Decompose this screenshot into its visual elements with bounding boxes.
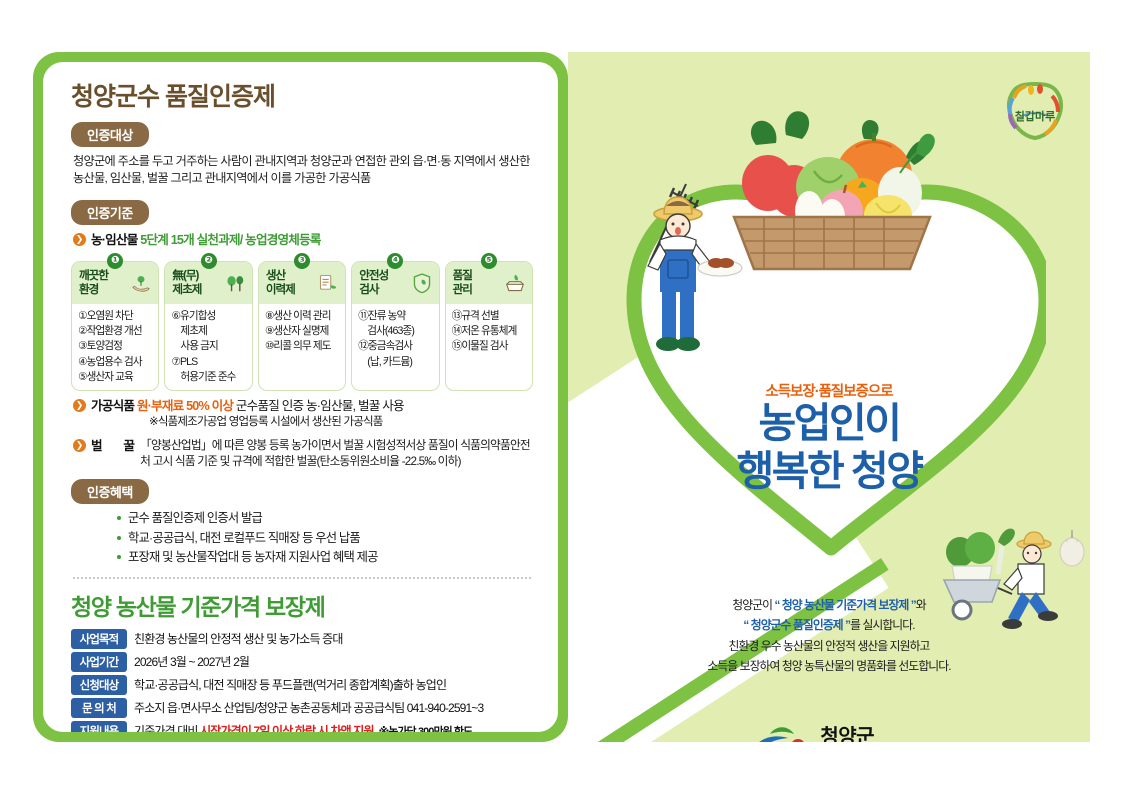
cabbage-icon (946, 529, 1015, 589)
headline-line-1: 농업인이 (568, 400, 1090, 448)
step-title-2-line1: 無(무) (172, 269, 201, 283)
row-label: 지원내용 (71, 721, 127, 732)
chevron-right-icon: ❯ (73, 399, 86, 412)
step-card-5: ❺ 품질 관리 (445, 261, 533, 391)
processed-food-label: 가공식품 (91, 399, 134, 413)
closing-line-1: 청양군이 “ 청양 농산물 기준가격 보장제 ”와 (568, 595, 1090, 615)
brochure-page: 청양군수 품질인증제 인증대상 청양군에 주소를 두고 거주하는 사람이 관내지… (0, 0, 1122, 793)
shield-leaf-icon (411, 272, 433, 294)
step-items-1: ①오염원 차단 ②작업환경 개선 ③토양검정 ④농업용수 검사 ⑤생산자 교육 (72, 304, 158, 384)
step-item: (납, 카드뮴) (358, 355, 433, 369)
table-row: 사업목적 친환경 농산물의 안정적 생산 및 농가소득 증대 (71, 629, 533, 649)
step-title-5: 품질 관리 (453, 269, 472, 296)
row-value: 2026년 3월 ~ 2027년 2월 (134, 652, 249, 671)
criteria-highlight: 5단계 15개 실천과제/ 농업경영체등록 (140, 233, 320, 247)
step-number-5: ❺ (481, 253, 497, 269)
list-item: 학교·공공급식, 대전 로컬푸드 직매장 등 우선 납품 (117, 529, 533, 548)
step-item: ③토양검정 (78, 339, 153, 353)
row-value: 학교·공공급식, 대전 직매장 등 푸드플랜(먹거리 종합계획)출하 농업인 (134, 675, 446, 694)
county-logo: 청양군 CHEONGYANG-GUN (568, 724, 1090, 742)
step-title-2-line2: 제초제 (172, 283, 201, 297)
page-title: 청양군수 품질인증제 (71, 84, 533, 112)
row-label: 문 의 처 (71, 698, 127, 718)
table-row: 문 의 처 주소지 읍·면사무소 산업팀/청양군 농촌공동체과 공공급식팀 04… (71, 698, 533, 718)
step-items-2: ⑥유기합성 제초제 사용 금지 ⑦PLS 허용기준 준수 (165, 304, 251, 384)
vegetable-basket-icon (716, 87, 946, 277)
closing-quote-1: “ 청양 농산물 기준가격 보장제 ” (774, 598, 915, 612)
honey-label: 벌 꿀 (91, 438, 134, 470)
step-title-1-line1: 깨끗한 (79, 269, 108, 283)
step-item: 검사(463종) (358, 324, 433, 338)
processed-food-rest: 군수품질 인증 농·임산물, 벌꿀 사용 (236, 399, 404, 413)
right-panel: 소득보장·품질보증으로 농업인이 행복한 청양 청양군이 “ 청양 농산물 기준… (568, 52, 1090, 742)
county-logo-ko: 청양군 (820, 727, 874, 742)
closing-quote-2: “ 청양군수 품질인증제 ” (743, 618, 850, 632)
kicker-text: 소득보장·품질보증으로 (568, 380, 1090, 401)
closing-line-4: 소득을 보장하여 청양 농특산물의 명품화를 선도합니다. (568, 656, 1090, 676)
package-sprout-icon (504, 272, 526, 294)
tree-icon (224, 272, 246, 294)
criteria-headline: 농·임산물 5단계 15개 실천과제/ 농업경영체등록 (91, 232, 321, 249)
row-label: 신청대상 (71, 675, 127, 695)
step-item: 사용 금지 (171, 339, 246, 353)
support-note: ※농가당 300만원 한도 (379, 726, 473, 732)
step-item: ⑬규격 선별 (452, 309, 527, 323)
step-title-3-line2: 이력제 (266, 283, 295, 297)
closing-line-3: 친환경 우수 농산물의 안정적 생산을 지원하고 (568, 636, 1090, 656)
honey-text: 벌 꿀 「양봉산업법」에 따른 양봉 등록 농가이면서 벌꿀 시험성적서상 품질… (91, 438, 533, 470)
row-label: 사업기간 (71, 652, 127, 672)
processed-food-note: ※식품제조가공업 영업등록 시설에서 생산된 가공식품 (91, 415, 404, 431)
step-title-2: 無(무) 제초제 (172, 269, 201, 296)
chevron-right-icon: ❯ (73, 439, 86, 452)
step-item: ⑪잔류 농약 (358, 309, 433, 323)
step-items-5: ⑬규격 선별 ⑭저온 유통체계 ⑮이물질 검사 (446, 304, 532, 354)
step-item: ⑤생산자 교육 (78, 370, 153, 384)
table-row-support: 지원내용 기준가격 대비 시장가격이 7일 이상 하락 시 차액 지원 ※농가당… (71, 721, 533, 732)
headline-line-2: 행복한 청양 (568, 448, 1090, 496)
criteria-step-grid: ❶ 깨끗한 환경 (71, 261, 533, 391)
step-item: ①오염원 차단 (78, 309, 153, 323)
chevron-right-icon: ❯ (73, 233, 86, 246)
step-items-4: ⑪잔류 농약 검사(463종) ⑫중금속검사 (납, 카드뮴) (352, 304, 438, 369)
row-value: 기준가격 대비 시장가격이 7일 이상 하락 시 차액 지원 ※농가당 300만… (134, 721, 472, 732)
step-item: ②작업환경 개선 (78, 324, 153, 338)
honey-body: 「양봉산업법」에 따른 양봉 등록 농가이면서 벌꿀 시험성적서상 품질이 식품… (140, 438, 533, 470)
step-card-4: ❹ 안전성 검사 ⑪잔류 농약 (351, 261, 439, 391)
step-number-4: ❹ (387, 253, 403, 269)
step-title-3: 생산 이력제 (266, 269, 295, 296)
closing-1a: 청양군이 (732, 598, 774, 612)
table-row: 신청대상 학교·공공급식, 대전 직매장 등 푸드플랜(먹거리 종합계획)출하 … (71, 675, 533, 695)
divider (73, 577, 531, 579)
table-row: 사업기간 2026년 3월 ~ 2027년 2월 (71, 652, 533, 672)
step-title-4: 안전성 검사 (359, 269, 388, 296)
honey-row: ❯ 벌 꿀 「양봉산업법」에 따른 양봉 등록 농가이면서 벌꿀 시험성적서상 … (73, 438, 533, 470)
step-card-1: ❶ 깨끗한 환경 (71, 261, 159, 391)
county-logo-text: 청양군 CHEONGYANG-GUN (820, 727, 901, 742)
list-item: 포장재 및 농산물작업대 등 농자재 지원사업 혜택 제공 (117, 548, 533, 567)
step-item: ⑧생산 이력 관리 (265, 309, 340, 323)
cheongyang-gun-symbol-icon (756, 724, 812, 742)
step-number-1: ❶ (107, 253, 123, 269)
row-value: 주소지 읍·면사무소 산업팀/청양군 농촌공동체과 공공급식팀 041-940-… (134, 698, 483, 717)
processed-food-row: ❯ 가공식품 원·부재료 50% 이상 군수품질 인증 농·임산물, 벌꿀 사용… (73, 398, 533, 431)
step-item: ⑦PLS (171, 355, 246, 369)
support-prefix: 기준가격 대비 (134, 724, 200, 732)
list-item: 군수 품질인증제 인증서 발급 (117, 509, 533, 528)
chilgapmaru-brand-emblem-icon: 칠갑마루 (1004, 80, 1066, 142)
closing-1b: 와 (916, 598, 926, 612)
step-item: ⑫중금속검사 (358, 339, 433, 353)
step-title-5-line2: 관리 (453, 283, 472, 297)
row-label: 사업목적 (71, 629, 127, 649)
step-title-5-line1: 품질 (453, 269, 472, 283)
step-title-1-line2: 환경 (79, 283, 108, 297)
step-number-2: ❷ (201, 253, 217, 269)
closing-2b: 를 실시합니다. (850, 618, 914, 632)
step-title-4-line2: 검사 (359, 283, 388, 297)
step-item: 제초제 (171, 324, 246, 338)
step-title-1: 깨끗한 환경 (79, 269, 108, 296)
step-item: ⑩리콜 의무 제도 (265, 339, 340, 353)
step-card-3: ❸ 생산 이력제 (258, 261, 346, 391)
badge-certification-benefit: 인증혜택 (71, 479, 149, 504)
sprout-in-hand-icon (130, 272, 152, 294)
step-item: ⑥유기합성 (171, 309, 246, 323)
certification-target-text: 청양군에 주소를 두고 거주하는 사람이 관내지역과 청양군과 연접한 관외 읍… (73, 153, 533, 188)
step-item: ⑨생산자 실명제 (265, 324, 340, 338)
step-card-2: ❷ 無(무) 제초제 (164, 261, 252, 391)
step-item: 허용기준 준수 (171, 370, 246, 384)
step-items-3: ⑧생산 이력 관리 ⑨생산자 실명제 ⑩리콜 의무 제도 (259, 304, 345, 354)
closing-line-2: “ 청양군수 품질인증제 ”를 실시합니다. (568, 615, 1090, 635)
step-title-3-line1: 생산 (266, 269, 295, 283)
step-number-3: ❸ (294, 253, 310, 269)
left-panel-inner: 청양군수 품질인증제 인증대상 청양군에 주소를 두고 거주하는 사람이 관내지… (43, 62, 558, 732)
criteria-prefix: 농·임산물 (91, 233, 140, 247)
document-leaf-icon (317, 272, 339, 294)
brand-emblem-label: 칠갑마루 (1015, 109, 1055, 123)
step-title-4-line1: 안전성 (359, 269, 388, 283)
support-highlight: 시장가격이 7일 이상 하락 시 차액 지원 (200, 724, 374, 732)
farmer-with-rake-icon (616, 144, 746, 374)
processed-food-highlight: 원·부재료 50% 이상 (137, 399, 233, 413)
step-item: ⑭저온 유통체계 (452, 324, 527, 338)
criteria-headline-row: ❯ 농·임산물 5단계 15개 실천과제/ 농업경영체등록 (73, 232, 533, 249)
badge-certification-criteria: 인증기준 (71, 200, 149, 225)
price-guarantee-title: 청양 농산물 기준가격 보장제 (71, 588, 533, 622)
processed-food-text: 가공식품 원·부재료 50% 이상 군수품질 인증 농·임산물, 벌꿀 사용 ※… (91, 398, 404, 431)
garlic-icon (1060, 530, 1084, 566)
step-item: ④농업용수 검사 (78, 355, 153, 369)
benefit-list: 군수 품질인증제 인증서 발급 학교·공공급식, 대전 로컬푸드 직매장 등 우… (77, 509, 533, 566)
row-value: 친환경 농산물의 안정적 생산 및 농가소득 증대 (134, 629, 343, 648)
badge-certification-target: 인증대상 (71, 122, 149, 147)
left-panel: 청양군수 품질인증제 인증대상 청양군에 주소를 두고 거주하는 사람이 관내지… (33, 52, 568, 742)
closing-statement: 청양군이 “ 청양 농산물 기준가격 보장제 ”와 “ 청양군수 품질인증제 ”… (568, 595, 1090, 676)
step-item: ⑮이물질 검사 (452, 339, 527, 353)
headline: 농업인이 행복한 청양 (568, 400, 1090, 495)
